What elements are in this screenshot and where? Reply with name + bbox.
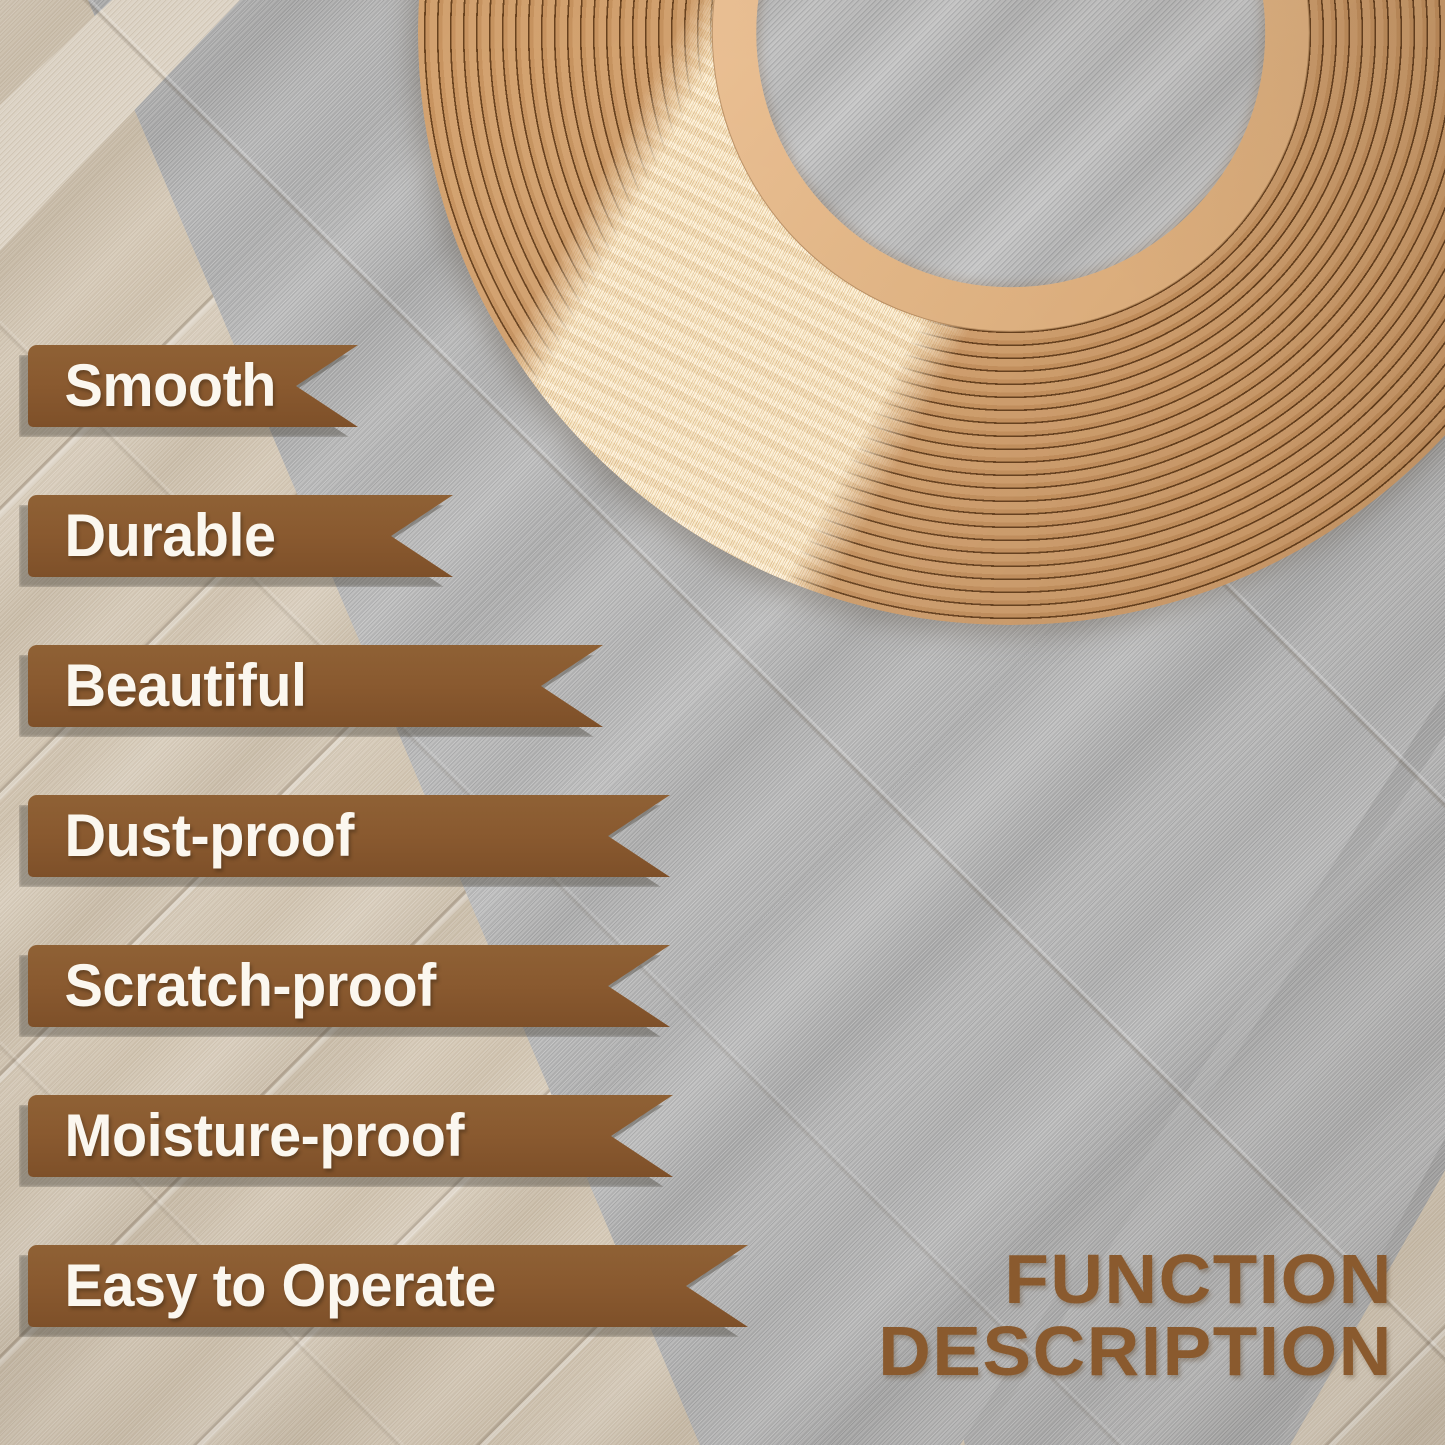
feature-banner: Dust-proof (28, 795, 670, 877)
feature-banner: Easy to Operate (28, 1245, 748, 1327)
title-line-2: DESCRIPTION (878, 1316, 1393, 1387)
feature-banner: Smooth (28, 345, 358, 427)
feature-banner-label: Easy to Operate (28, 1256, 496, 1316)
feature-banner-label: Beautiful (28, 656, 307, 716)
feature-banner-label: Scratch-proof (28, 956, 436, 1016)
feature-banner-label: Durable (28, 506, 276, 566)
feature-banner-label: Moisture-proof (28, 1106, 464, 1166)
feature-banner: Durable (28, 495, 453, 577)
feature-banner-label: Dust-proof (28, 806, 354, 866)
feature-banner: Scratch-proof (28, 945, 670, 1027)
feature-banner-label: Smooth (28, 356, 276, 416)
function-description-title: FUNCTION DESCRIPTION (878, 1244, 1393, 1387)
feature-banner: Moisture-proof (28, 1095, 673, 1177)
feature-banner: Beautiful (28, 645, 603, 727)
feature-banner-list: SmoothDurableBeautifulDust-proofScratch-… (0, 0, 800, 1445)
product-infographic: SmoothDurableBeautifulDust-proofScratch-… (0, 0, 1445, 1445)
title-line-1: FUNCTION (878, 1244, 1393, 1315)
